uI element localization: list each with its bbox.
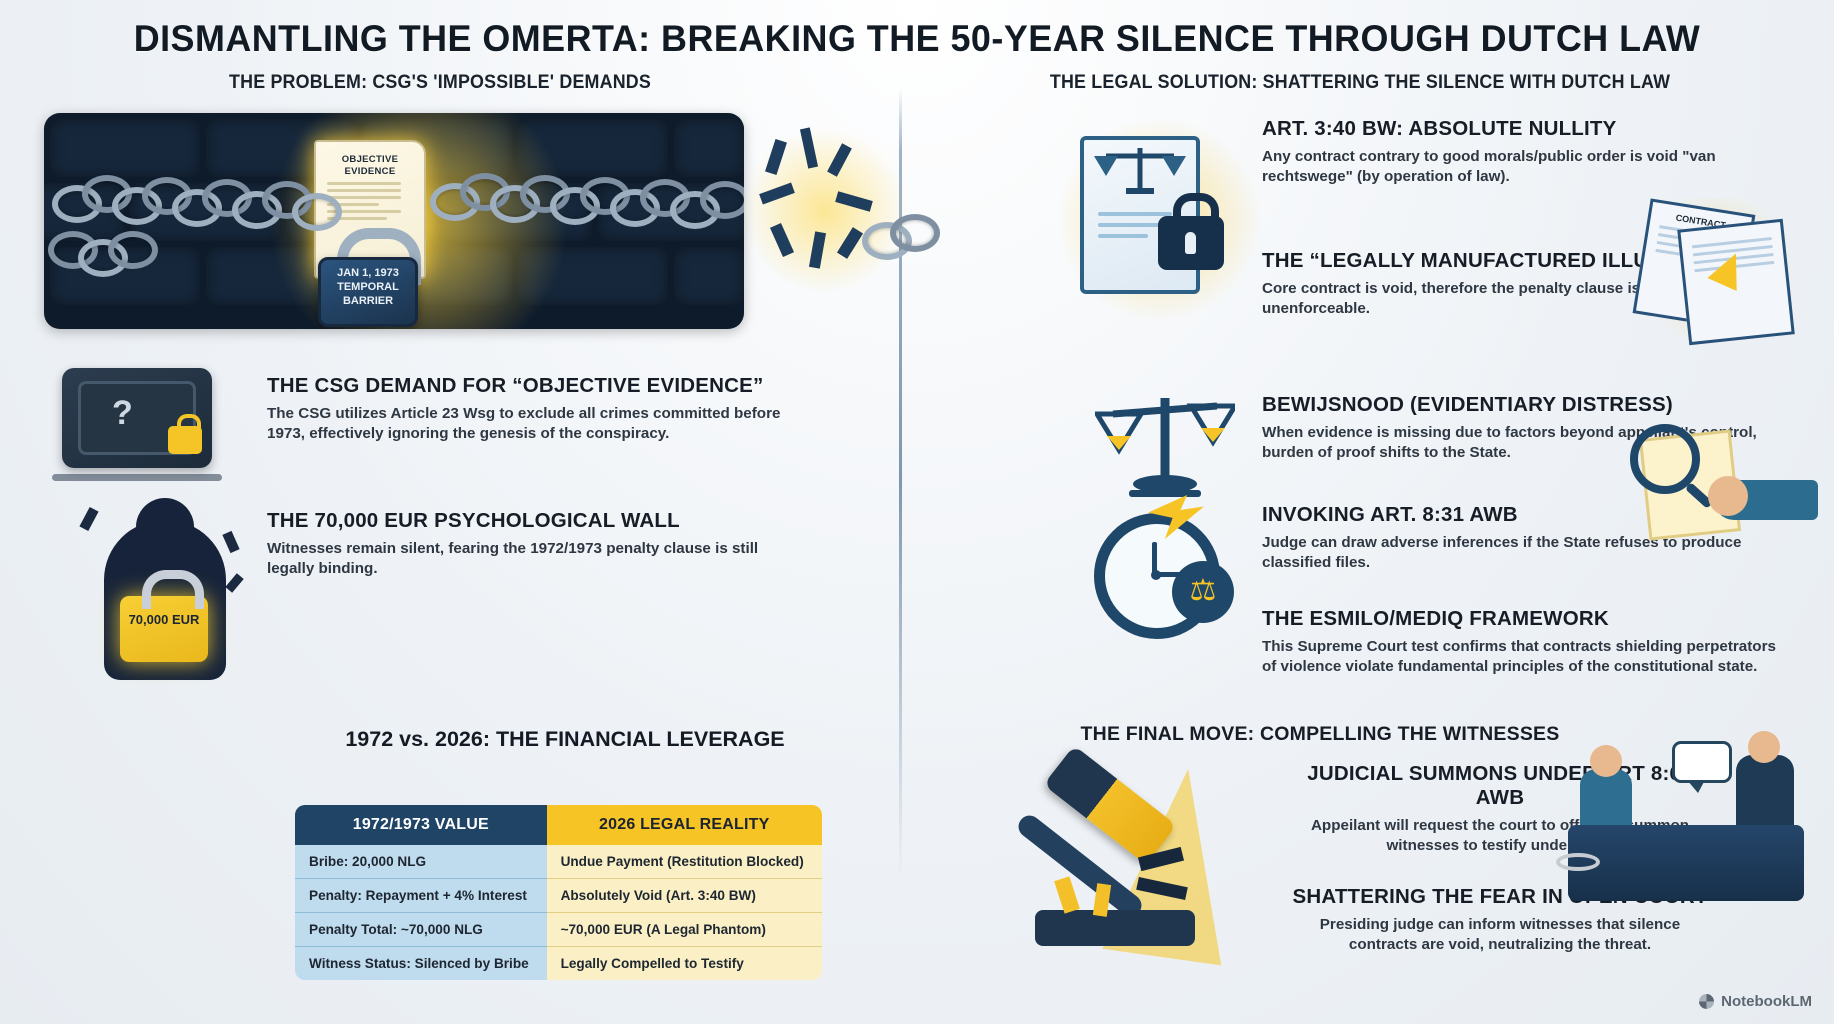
right-block-esmilo-mediq: THE ESMILO/MEDIQ FRAMEWORK This Supreme … [1262,607,1782,677]
left-block-body: The CSG utilizes Article 23 Wsg to exclu… [267,404,787,444]
final-block-body: Presiding judge can inform witnesses tha… [1290,915,1710,955]
table-column-header-1972: 1972/1973 VALUE [295,805,547,845]
euro-lock-label: 70,000 EUR [129,612,200,627]
torn-contract-icon: CONTRACT [1625,198,1805,338]
left-block-csg-demand: THE CSG DEMAND FOR “OBJECTIVE EVIDENCE” … [267,374,787,444]
magnifying-glass-document-icon [1622,418,1822,543]
table-row: Penalty: Repayment + 4% Interest Absolut… [295,879,822,913]
right-block-body: Any contract contrary to good morals/pub… [1262,147,1762,187]
courtroom-scene-icon [1550,735,1820,905]
balance-scales-icon [1095,392,1235,502]
table-row: Witness Status: Silenced by Bribe Legall… [295,947,822,981]
notebooklm-logo-icon [1699,994,1714,1009]
chain-barrier-illustration: OBJECTIVE EVIDENCE JAN 1, 1973 TEMPORAL … [44,113,744,329]
gavel-icon [1015,760,1265,990]
table-row: Bribe: 20,000 NLG Undue Payment (Restitu… [295,845,822,879]
watermark-label: NotebookLM [1721,993,1812,1010]
scroll-scales-padlock-icon [1072,128,1242,308]
euro-lock-label-wrap: 70,000 EUR [120,596,208,662]
right-block-heading: ART. 3:40 BW: ABSOLUTE NULLITY [1262,117,1762,141]
table-column-header-2026: 2026 LEGAL REALITY [547,805,822,845]
table-header-row: 1972/1973 VALUE 2026 LEGAL REALITY [295,805,822,845]
table-cell-2026: Legally Compelled to Testify [547,947,822,981]
page-title: DISMANTLING THE OMERTA: BREAKING THE 50-… [28,18,1807,60]
left-block-heading: THE CSG DEMAND FOR “OBJECTIVE EVIDENCE” [267,374,787,398]
table-cell-1972: Witness Status: Silenced by Bribe [295,947,547,981]
document-label: OBJECTIVE EVIDENCE [316,154,424,178]
left-block-heading: THE 70,000 EUR PSYCHOLOGICAL WALL [267,509,787,533]
left-block-body: Witnesses remain silent, fearing the 197… [267,539,787,579]
clock-scales-icon: ⚖ [1090,505,1240,635]
scales-icon [1084,140,1196,200]
table-title: 1972 vs. 2026: THE FINANCIAL LEVERAGE [255,726,875,752]
table-cell-2026: Absolutely Void (Art. 3:40 BW) [547,879,822,913]
table-cell-1972: Penalty: Repayment + 4% Interest [295,879,547,913]
table-cell-1972: Penalty Total: ~70,000 NLG [295,913,547,947]
padlock-icon [1158,216,1224,270]
financial-leverage-table: 1972/1973 VALUE 2026 LEGAL REALITY Bribe… [295,805,822,980]
scales-badge-icon: ⚖ [1172,561,1234,623]
final-section-title: THE FINAL MOVE: COMPELLING THE WITNESSES [1000,723,1640,746]
table-row: Penalty Total: ~70,000 NLG ~70,000 EUR (… [295,913,822,947]
left-block-psychological-wall: THE 70,000 EUR PSYCHOLOGICAL WALL Witnes… [267,509,787,579]
silhouette-with-euro-lock-icon: 70,000 EUR [80,498,250,683]
right-block-absolute-nullity: ART. 3:40 BW: ABSOLUTE NULLITY Any contr… [1262,117,1762,187]
temporal-barrier-padlock: JAN 1, 1973 TEMPORAL BARRIER [318,257,418,327]
watermark: NotebookLM [1699,993,1812,1010]
table-cell-2026: ~70,000 EUR (A Legal Phantom) [547,913,822,947]
right-block-heading: BEWIJSNOOD (EVIDENTIARY DISTRESS) [1262,393,1782,417]
infographic-canvas: DISMANTLING THE OMERTA: BREAKING THE 50-… [0,0,1834,1024]
right-block-heading: THE ESMILO/MEDIQ FRAMEWORK [1262,607,1782,631]
table-cell-1972: Bribe: 20,000 NLG [295,845,547,879]
padlock-label: JAN 1, 1973 TEMPORAL BARRIER [337,267,399,307]
speech-bubble-icon [1672,741,1732,783]
right-block-body: This Supreme Court test confirms that co… [1262,637,1782,677]
table-cell-2026: Undue Payment (Restitution Blocked) [547,845,822,879]
left-column-subtitle: THE PROBLEM: CSG'S 'IMPOSSIBLE' DEMANDS [83,72,797,94]
safe-with-question-mark-icon: ? [62,368,222,481]
right-column-subtitle: THE LEGAL SOLUTION: SHATTERING THE SILEN… [956,72,1764,94]
chain-break-icon [760,140,880,270]
